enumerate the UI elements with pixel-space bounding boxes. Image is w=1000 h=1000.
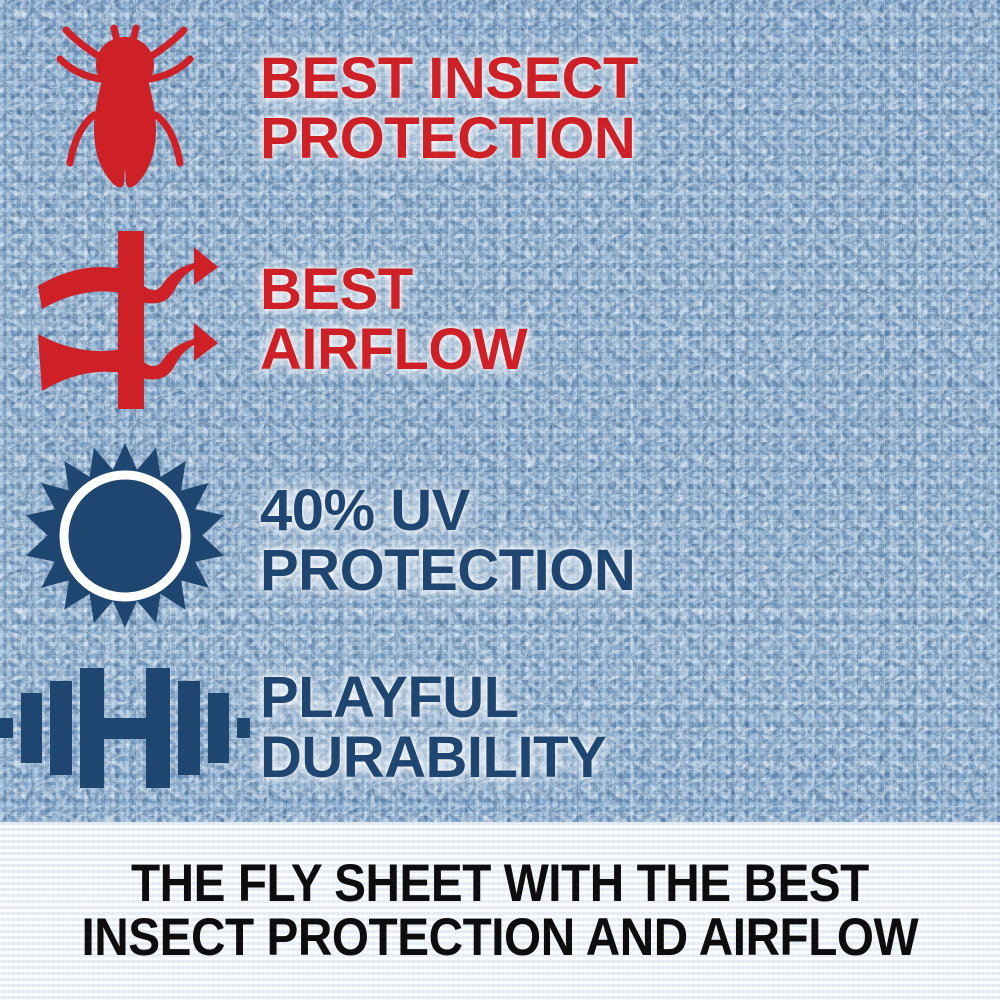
feature-icon-container <box>0 231 250 409</box>
feature-label-container: 40% UV PROTECTION <box>250 481 635 600</box>
feature-row-uv-protection: 40% UV PROTECTION <box>0 438 635 643</box>
feature-label-insect-protection: BEST INSECT PROTECTION <box>260 49 638 168</box>
caption-band: THE FLY SHEET WITH THE BEST INSECT PROTE… <box>0 822 1000 1000</box>
airflow-arrows-icon <box>30 231 220 409</box>
caption-line-1: THE FLY SHEET WITH THE BEST <box>131 857 869 911</box>
feature-label-durability: PLAYFUL DURABILITY <box>260 668 606 787</box>
feature-label-uv-protection: 40% UV PROTECTION <box>260 481 635 600</box>
feature-icon-container <box>0 441 250 641</box>
feature-label-container: BEST AIRFLOW <box>250 260 527 379</box>
caption-line-2: INSECT PROTECTION AND AIRFLOW <box>82 911 919 965</box>
feature-row-durability: PLAYFUL DURABILITY <box>0 650 606 805</box>
dumbbell-icon <box>0 662 250 794</box>
feature-icon-container <box>0 662 250 794</box>
product-feature-infographic: BEST INSECT PROTECTION <box>0 0 1000 1000</box>
feature-row-airflow: BEST AIRFLOW <box>0 222 527 417</box>
feature-row-insect-protection: BEST INSECT PROTECTION <box>0 14 638 204</box>
feature-label-airflow: BEST AIRFLOW <box>260 260 527 379</box>
sun-uv-icon <box>25 441 225 641</box>
feature-label-container: PLAYFUL DURABILITY <box>250 668 606 787</box>
fly-icon <box>50 17 200 202</box>
feature-icon-container <box>0 17 250 202</box>
feature-label-container: BEST INSECT PROTECTION <box>250 49 638 168</box>
feature-list: BEST INSECT PROTECTION <box>0 0 1000 822</box>
